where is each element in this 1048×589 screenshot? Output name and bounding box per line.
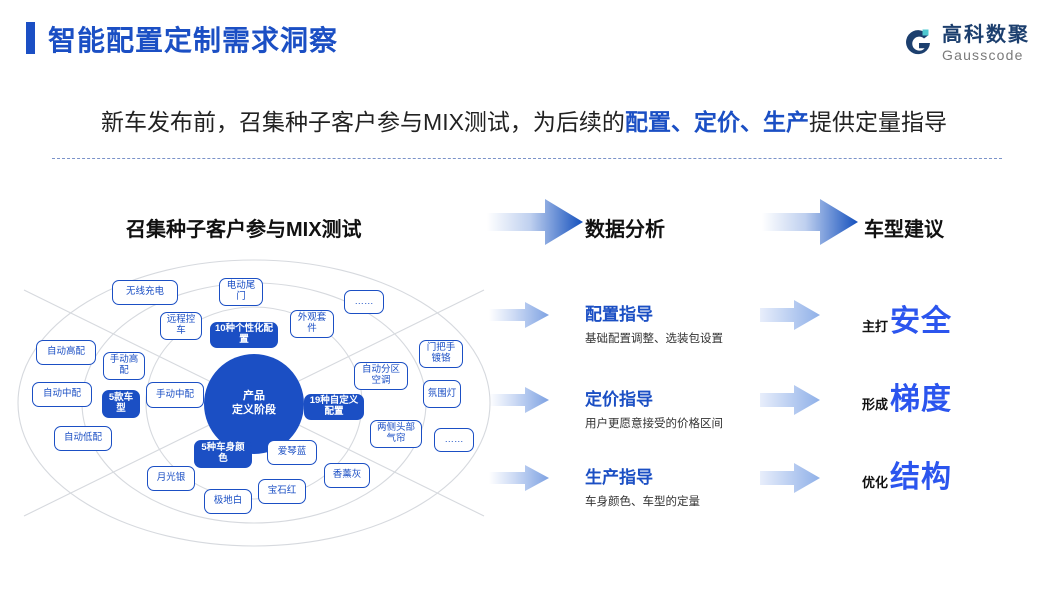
- page-title: 智能配置定制需求洞察: [48, 19, 338, 59]
- mindmap-node-5-body-colors[interactable]: 5种车身颜色: [194, 440, 252, 468]
- mindmap-node-exterior-kit[interactable]: 外观套件: [290, 310, 334, 338]
- mindmap-node-5-models[interactable]: 5款车型: [102, 390, 140, 418]
- mindmap-node-ellipsis-right[interactable]: ……: [434, 428, 474, 452]
- mindmap-node-19-custom-configs[interactable]: 19种自定义配置: [304, 394, 364, 420]
- result-arrow-structure-icon: [760, 463, 820, 493]
- result-arrow-tier-icon: [760, 385, 820, 415]
- mindmap-node-remote-control[interactable]: 远程控车: [160, 312, 202, 340]
- suggestion-item-safety: 主打 安全: [862, 296, 952, 340]
- mindmap-node-auto-mid-trim[interactable]: 自动中配: [32, 382, 92, 407]
- subtitle-part-2: 提供定量指导: [809, 109, 947, 135]
- slide-subtitle: 新车发布前，召集种子客户参与MIX测试，为后续的配置、定价、生产提供定量指导: [0, 103, 1048, 137]
- logo-text-block: 高科数聚 Gausscode: [942, 25, 1030, 62]
- suggestion-prefix-structure: 优化: [862, 472, 888, 491]
- mindmap-node-manual-high-trim[interactable]: 手动高配: [103, 352, 145, 380]
- mindmap-node-auto-low-trim[interactable]: 自动低配: [54, 426, 112, 451]
- analysis-title-pricing: 定价指导: [585, 385, 723, 410]
- gausscode-logo-icon: [902, 27, 934, 59]
- mindmap-hub-label: 产品定义阶段: [232, 390, 276, 418]
- flow-arrow-1-icon: [487, 199, 583, 245]
- mindmap-node-wireless-charging[interactable]: 无线充电: [112, 280, 178, 305]
- analysis-title-production: 生产指导: [585, 463, 700, 488]
- mindmap-node-10-personalized-configs[interactable]: 10种个性化配置: [210, 322, 278, 348]
- mindmap-node-lavender-gray[interactable]: 香薰灰: [324, 463, 370, 488]
- suggestion-item-tier: 形成 梯度: [862, 374, 952, 418]
- connector-arrow-config-icon: [489, 302, 549, 328]
- analysis-desc-config: 基础配置调整、选装包设置: [585, 330, 723, 346]
- analysis-desc-pricing: 用户更愿意接受的价格区间: [585, 415, 723, 431]
- subtitle-highlight: 配置、定价、生产: [625, 109, 809, 135]
- flow-arrow-2-icon: [762, 199, 858, 245]
- mindmap-node-manual-mid-trim[interactable]: 手动中配: [146, 382, 204, 408]
- slide-header: 智能配置定制需求洞察 高科数聚 Gausscode: [0, 0, 1048, 78]
- logo-english-name: Gausscode: [942, 48, 1030, 62]
- suggestion-keyword-tier: 梯度: [890, 374, 952, 418]
- mindmap-node-ambient-light[interactable]: 氛围灯: [423, 380, 461, 408]
- mindmap-node-power-tailgate[interactable]: 电动尾门: [219, 278, 263, 306]
- mindmap-hub: 产品定义阶段: [204, 354, 304, 454]
- company-logo: 高科数聚 Gausscode: [902, 20, 1030, 66]
- suggestion-item-structure: 优化 结构: [862, 452, 952, 496]
- section-divider: [52, 158, 1002, 159]
- stage-heading-collect: 召集种子客户参与MIX测试: [126, 213, 362, 242]
- mindmap-node-ellipsis-top[interactable]: ……: [344, 290, 384, 314]
- connector-arrow-pricing-icon: [489, 387, 549, 413]
- connector-arrow-production-icon: [489, 465, 549, 491]
- product-definition-mindmap: 产品定义阶段 无线充电 电动尾门 远程控车 10种个性化配置 外观套件 …… 门…: [14, 258, 494, 548]
- slide-root: 智能配置定制需求洞察 高科数聚 Gausscode 新车发布前，召集种子客户参与…: [0, 0, 1048, 589]
- analysis-desc-production: 车身颜色、车型的定量: [585, 493, 700, 509]
- analysis-item-config: 配置指导 基础配置调整、选装包设置: [585, 300, 723, 346]
- mindmap-node-moonlight-silver[interactable]: 月光银: [147, 466, 195, 491]
- result-arrow-safety-icon: [760, 300, 820, 330]
- mindmap-node-side-head-curtain[interactable]: 两侧头部气帘: [370, 420, 422, 448]
- logo-chinese-name: 高科数聚: [942, 25, 1030, 45]
- suggestion-prefix-tier: 形成: [862, 394, 888, 413]
- suggestion-keyword-safety: 安全: [890, 296, 952, 340]
- stage-heading-suggestion: 车型建议: [864, 213, 944, 242]
- mindmap-node-chrome-door-handle[interactable]: 门把手镀铬: [419, 340, 463, 368]
- mindmap-node-ruby-red[interactable]: 宝石红: [258, 479, 306, 504]
- suggestion-prefix-safety: 主打: [862, 316, 888, 335]
- analysis-item-production: 生产指导 车身颜色、车型的定量: [585, 463, 700, 509]
- suggestion-keyword-structure: 结构: [890, 452, 952, 496]
- mindmap-node-polar-white[interactable]: 极地白: [204, 489, 252, 514]
- mindmap-node-dual-zone-ac[interactable]: 自动分区空调: [354, 362, 408, 390]
- analysis-item-pricing: 定价指导 用户更愿意接受的价格区间: [585, 385, 723, 431]
- mindmap-node-aegean-blue[interactable]: 爱琴蓝: [267, 440, 317, 465]
- title-accent-bar: [26, 22, 35, 54]
- stage-heading-analysis: 数据分析: [585, 213, 665, 242]
- subtitle-part-1: 新车发布前，召集种子客户参与MIX测试，为后续的: [101, 109, 625, 135]
- mindmap-node-auto-high-trim[interactable]: 自动高配: [36, 340, 96, 365]
- analysis-title-config: 配置指导: [585, 300, 723, 325]
